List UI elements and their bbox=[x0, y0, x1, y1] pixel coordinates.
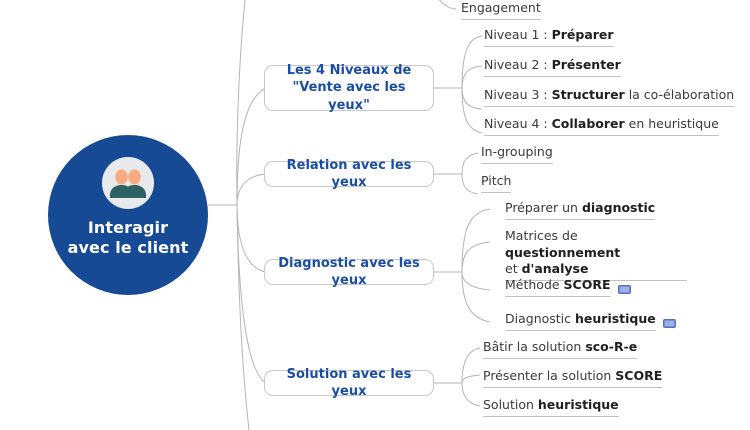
leaf-text-pre2: et bbox=[505, 261, 522, 276]
leaf-solution-heuristique[interactable]: Solution heuristique bbox=[483, 397, 619, 417]
branch-niveaux[interactable]: Les 4 Niveaux de "Vente avec les yeux" bbox=[264, 65, 434, 111]
branch-relation-label: Relation avec les yeux bbox=[275, 157, 423, 191]
leaf-text-pre: Présenter la solution bbox=[483, 368, 615, 383]
leaf-text-pre: Préparer un bbox=[505, 200, 582, 215]
leaf-diagnostic-heuristique[interactable]: Diagnostic heuristique bbox=[505, 311, 676, 331]
leaf-preparer-diagnostic[interactable]: Préparer un diagnostic bbox=[505, 200, 655, 220]
leaf-text-bold2: d'analyse bbox=[522, 261, 589, 276]
leaf-text-pre: Bâtir la solution bbox=[483, 339, 585, 354]
branch-solution[interactable]: Solution avec les yeux bbox=[264, 370, 434, 396]
leaf-matrices[interactable]: Matrices de questionnement et d'analyse bbox=[505, 228, 695, 281]
branch-diagnostic[interactable]: Diagnostic avec les yeux bbox=[264, 259, 434, 285]
leaf-niveau-4[interactable]: Niveau 4 : Collaborer en heuristique bbox=[484, 116, 719, 136]
leaf-text-bold: heuristique bbox=[538, 397, 619, 412]
central-node[interactable]: Interagir avec le client bbox=[48, 135, 208, 295]
leaf-pitch[interactable]: Pitch bbox=[481, 173, 511, 193]
leaf-text-bold: Collaborer bbox=[552, 116, 625, 131]
leaf-text-post: en heuristique bbox=[625, 116, 719, 131]
leaf-text-bold: Structurer bbox=[552, 87, 625, 102]
leaf-niveau-3[interactable]: Niveau 3 : Structurer la co-élaboration bbox=[484, 87, 734, 107]
leaf-niveau-1[interactable]: Niveau 1 : Préparer bbox=[484, 27, 614, 47]
mindmap-canvas: Interagir avec le client Les 4 Niveaux d… bbox=[0, 0, 750, 430]
leaf-text-pre: Diagnostic bbox=[505, 311, 575, 326]
leaf-text-bold: diagnostic bbox=[582, 200, 655, 215]
leaf-text-pre: Matrices de bbox=[505, 228, 578, 243]
leaf-in-grouping[interactable]: In-grouping bbox=[481, 144, 553, 164]
leaf-text-pre: Méthode bbox=[505, 277, 564, 292]
leaf-engagement[interactable]: Engagement bbox=[461, 0, 541, 20]
branch-niveaux-label: Les 4 Niveaux de "Vente avec les yeux" bbox=[275, 62, 423, 113]
leaf-text-bold: SCORE bbox=[615, 368, 662, 383]
leaf-text-pre: Niveau 3 : bbox=[484, 87, 552, 102]
note-attachment-icon[interactable] bbox=[663, 319, 676, 328]
leaf-text-bold: questionnement bbox=[505, 245, 620, 260]
leaf-methode-score[interactable]: Méthode SCORE bbox=[505, 277, 631, 297]
leaf-text-pre: Niveau 1 : bbox=[484, 27, 552, 42]
leaf-niveau-2[interactable]: Niveau 2 : Présenter bbox=[484, 57, 621, 77]
leaf-text-post: la co-élaboration bbox=[625, 87, 735, 102]
note-attachment-icon[interactable] bbox=[618, 285, 631, 294]
branch-diagnostic-label: Diagnostic avec les yeux bbox=[275, 255, 423, 289]
leaf-presenter-solution[interactable]: Présenter la solution SCORE bbox=[483, 368, 662, 388]
leaf-text-pre: Engagement bbox=[461, 0, 541, 15]
leaf-text-pre: Solution bbox=[483, 397, 538, 412]
leaf-text-pre: Niveau 2 : bbox=[484, 57, 552, 72]
leaf-text-bold: SCORE bbox=[564, 277, 611, 292]
leaf-text-bold: heuristique bbox=[575, 311, 656, 326]
leaf-batir-solution[interactable]: Bâtir la solution sco-R-e bbox=[483, 339, 637, 359]
leaf-text-bold: Préparer bbox=[552, 27, 614, 42]
leaf-text-pre: In-grouping bbox=[481, 144, 553, 159]
leaf-text-bold: Présenter bbox=[552, 57, 621, 72]
branch-solution-label: Solution avec les yeux bbox=[275, 366, 423, 400]
leaf-text-pre: Niveau 4 : bbox=[484, 116, 552, 131]
branch-relation[interactable]: Relation avec les yeux bbox=[264, 161, 434, 187]
leaf-text-pitch: Pitch bbox=[481, 173, 511, 188]
two-people-icon bbox=[102, 157, 154, 209]
central-node-label: Interagir avec le client bbox=[68, 218, 189, 258]
leaf-text-bold: sco-R-e bbox=[585, 339, 637, 354]
